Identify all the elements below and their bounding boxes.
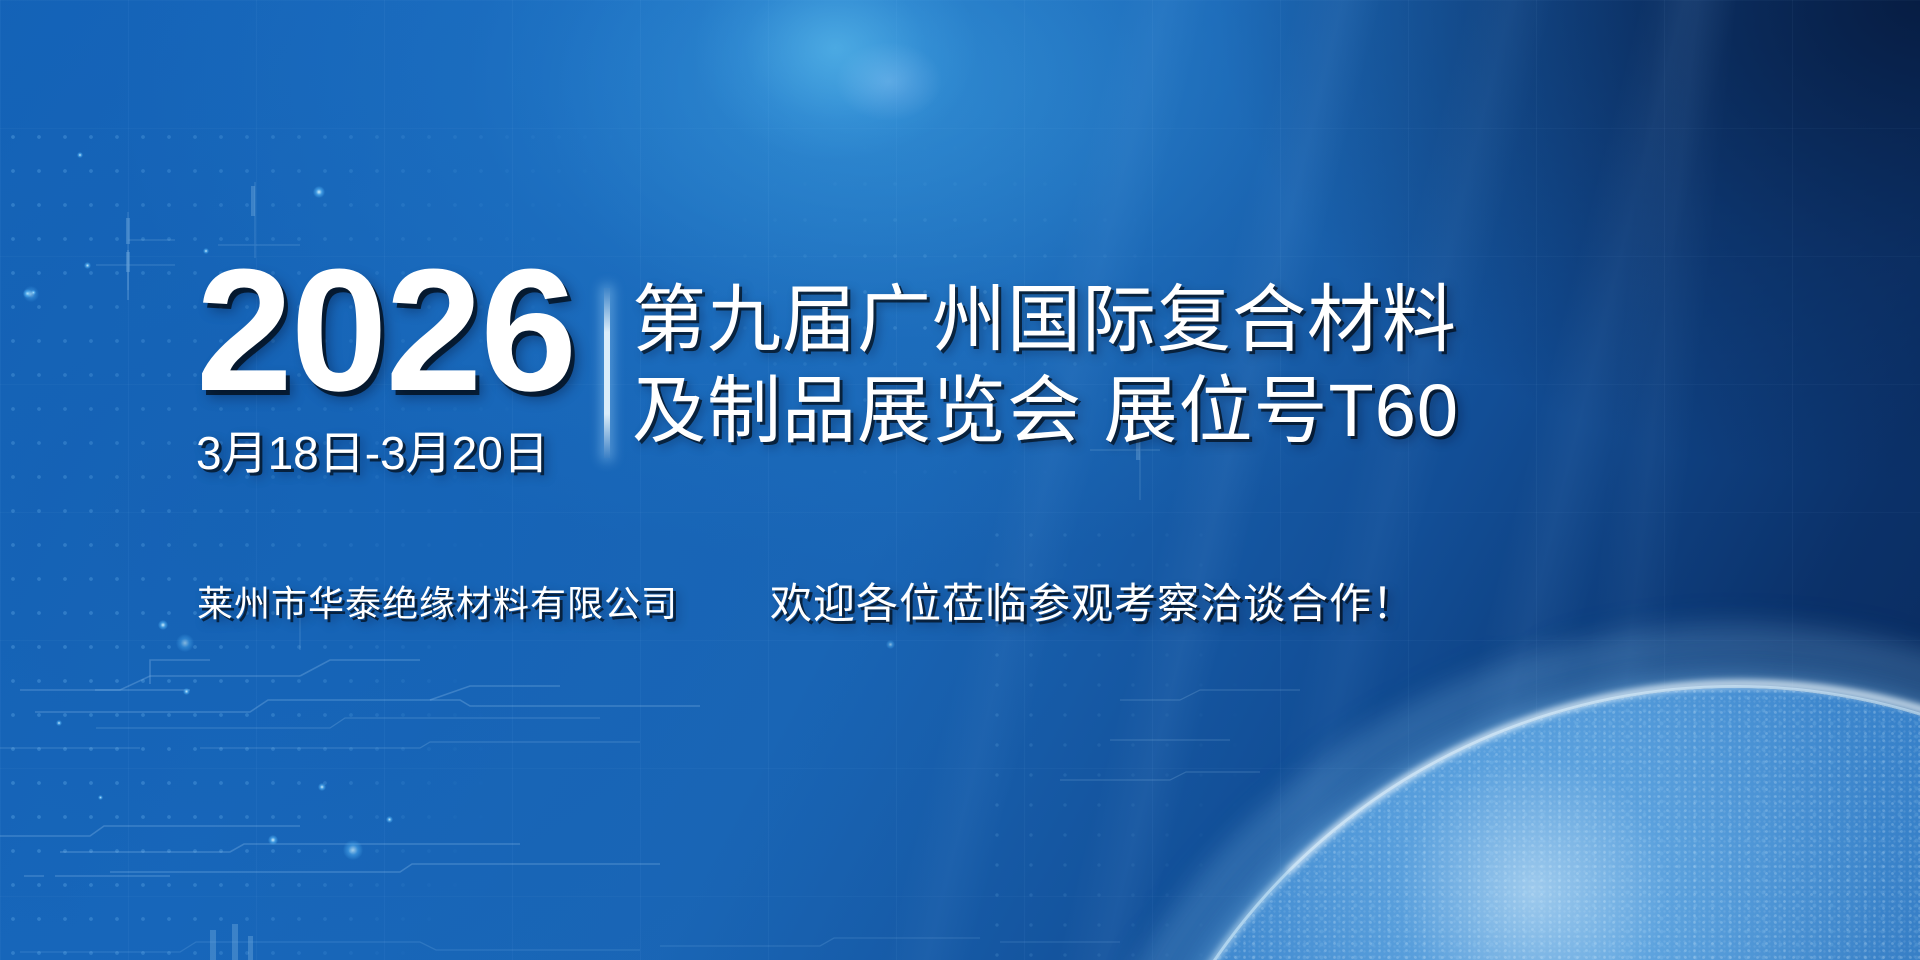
exhibition-banner: 2026 3月18日-3月20日 第九届广州国际复合材料 及制品展览会 展位号T… xyxy=(0,0,1920,960)
year-heading: 2026 xyxy=(196,255,606,405)
event-dates: 3月18日-3月20日 xyxy=(196,417,606,483)
vertical-divider xyxy=(604,288,610,458)
welcome-message: 欢迎各位莅临参观考察洽谈合作！ xyxy=(770,570,1415,631)
event-title: 第九届广州国际复合材料 及制品展览会 展位号T60 xyxy=(632,274,1459,456)
banner-content: 2026 3月18日-3月20日 第九届广州国际复合材料 及制品展览会 展位号T… xyxy=(0,0,1920,960)
event-title-line-2: 及制品展览会 展位号T60 xyxy=(632,365,1459,456)
year-block: 2026 3月18日-3月20日 xyxy=(196,255,606,483)
event-title-line-1: 第九届广州国际复合材料 xyxy=(632,274,1459,365)
company-name: 莱州市华泰绝缘材料有限公司 xyxy=(197,575,678,627)
